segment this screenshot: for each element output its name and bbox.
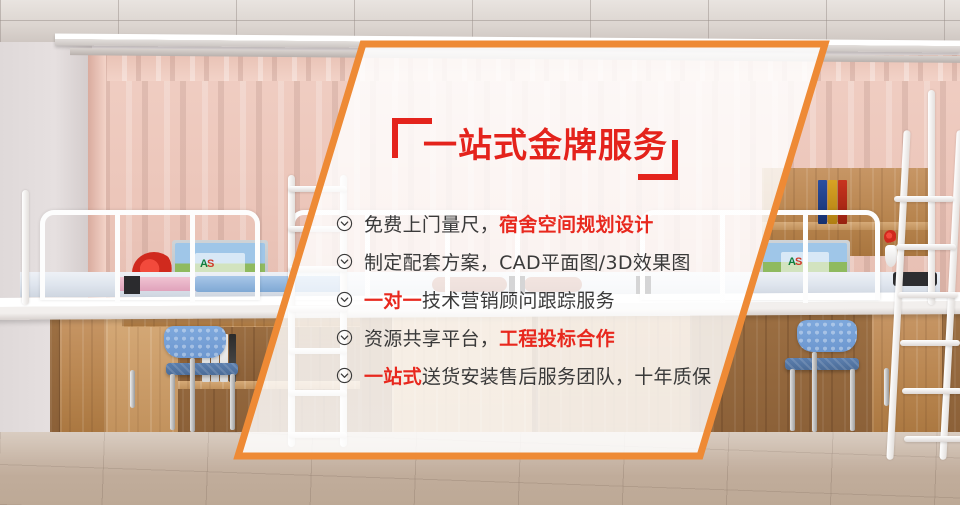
- service-list-item-label: 资源共享平台，工程投标合作: [364, 324, 615, 351]
- service-list: 免费上门量尺，宿舍空间规划设计 制定配套方案，CAD平面图/3D效果图 一对一技…: [336, 204, 756, 394]
- plain-phrase: 送货安装售后服务团队，十年质保: [422, 366, 712, 388]
- service-list-item-label: 免费上门量尺，宿舍空间规划设计: [364, 210, 654, 237]
- service-list-item: 制定配套方案，CAD平面图/3D效果图: [336, 242, 756, 280]
- chevron-down-circle-icon: [336, 367, 353, 384]
- service-list-item: 资源共享平台，工程投标合作: [336, 318, 756, 356]
- highlighted-phrase: 工程投标合作: [499, 328, 615, 350]
- plain-phrase: 资源共享平台，: [364, 328, 499, 350]
- chevron-down-circle-icon: [336, 329, 353, 346]
- service-list-item: 一站式送货安装售后服务团队，十年质保: [336, 356, 756, 394]
- banner-content: 一站式金牌服务 免费上门量尺，宿舍空间规划设计 制定配套方案，CAD平面图/3D…: [0, 0, 960, 505]
- plain-phrase: 制定配套方案，CAD平面图/3D效果图: [364, 252, 691, 274]
- page-title: 一站式金牌服务: [423, 126, 668, 166]
- service-list-item-label: 制定配套方案，CAD平面图/3D效果图: [364, 248, 691, 275]
- chevron-down-circle-icon: [336, 215, 353, 232]
- plain-phrase: 技术营销顾问跟踪服务: [422, 290, 615, 312]
- highlighted-phrase: 一站式: [364, 366, 422, 388]
- service-list-item-label: 一站式送货安装售后服务团队，十年质保: [364, 362, 711, 389]
- chevron-down-circle-icon: [336, 291, 353, 308]
- chevron-down-circle-icon: [336, 253, 353, 270]
- service-list-item: 免费上门量尺，宿舍空间规划设计: [336, 204, 756, 242]
- highlighted-phrase: 一对一: [364, 290, 422, 312]
- plain-phrase: 免费上门量尺，: [364, 214, 499, 236]
- promo-banner: AS AS: [0, 0, 960, 505]
- service-list-item: 一对一技术营销顾问跟踪服务: [336, 280, 756, 318]
- headline-block: 一站式金牌服务: [392, 118, 692, 180]
- highlighted-phrase: 宿舍空间规划设计: [499, 214, 653, 236]
- service-list-item-label: 一对一技术营销顾问跟踪服务: [364, 286, 615, 313]
